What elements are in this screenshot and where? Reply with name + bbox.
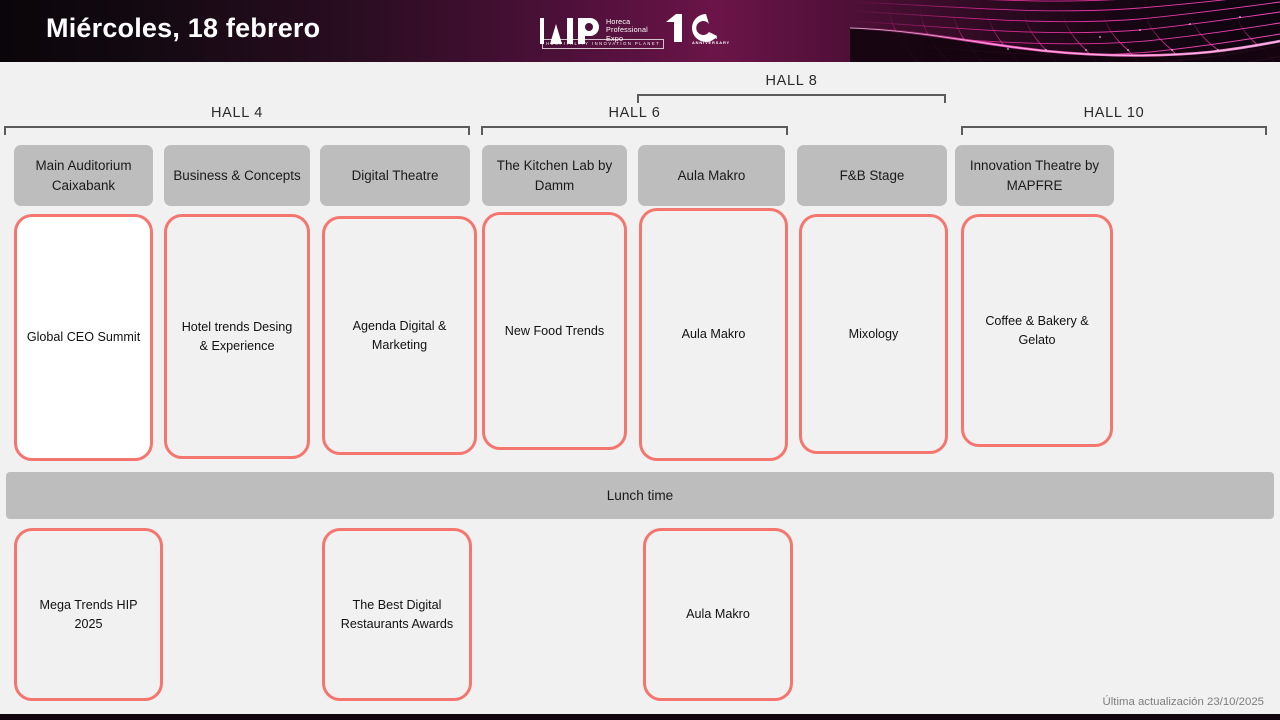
room-header[interactable]: The Kitchen Lab by Damm: [482, 145, 627, 206]
session-card-title: Hotel trends Desing & Experience: [176, 318, 298, 356]
session-card-title: Global CEO Summit: [27, 328, 140, 347]
page-title: Miércoles, 18 febrero: [46, 13, 320, 44]
room-header[interactable]: Business & Concepts: [164, 145, 310, 206]
room-header-label: Business & Concepts: [173, 166, 300, 186]
session-card[interactable]: Aula Makro: [639, 208, 788, 461]
anniversary-text: ANNIVERSARY: [692, 41, 730, 46]
hall-label: HALL 8: [637, 73, 946, 89]
anniversary-badge: YEAR ANNIVERSARY: [662, 12, 728, 49]
session-card-title: Mixology: [849, 325, 899, 344]
bottom-decoration-strip: [0, 714, 1280, 720]
hall-group-hall-6: HALL 6: [481, 105, 788, 138]
session-card[interactable]: Agenda Digital & Marketing: [322, 216, 477, 455]
hip-logo: Horeca Professional Expo HOSPITALITY INN…: [540, 12, 728, 49]
session-card-title: New Food Trends: [505, 322, 604, 341]
hall-group-hall-4: HALL 4: [4, 105, 470, 138]
hall-bracket: [4, 126, 470, 135]
lunch-time-bar: Lunch time: [6, 472, 1274, 519]
hall-label: HALL 10: [961, 105, 1267, 121]
anniversary-label: YEAR ANNIVERSARY: [692, 36, 730, 46]
room-header-label: Digital Theatre: [352, 166, 439, 186]
session-card[interactable]: The Best Digital Restaurants Awards: [322, 528, 472, 701]
session-card[interactable]: Mega Trends HIP 2025: [14, 528, 163, 701]
room-header[interactable]: Aula Makro: [638, 145, 785, 206]
session-card-title: The Best Digital Restaurants Awards: [334, 596, 460, 634]
hall-label: HALL 4: [4, 105, 470, 121]
room-header-label: Innovation Theatre by MAPFRE: [961, 156, 1108, 196]
session-card[interactable]: Coffee & Bakery & Gelato: [961, 214, 1113, 447]
session-card-title: Aula Makro: [686, 605, 750, 624]
hall-label: HALL 6: [481, 105, 788, 121]
room-header-label: Main Auditorium Caixabank: [20, 156, 147, 196]
room-header[interactable]: Innovation Theatre by MAPFRE: [955, 145, 1114, 206]
room-header[interactable]: Digital Theatre: [320, 145, 470, 206]
hall-group-hall-8: HALL 8: [637, 73, 946, 106]
room-header-label: The Kitchen Lab by Damm: [488, 156, 621, 196]
session-card-title: Coffee & Bakery & Gelato: [973, 312, 1101, 350]
session-card[interactable]: New Food Trends: [482, 212, 627, 450]
hall-group-hall-10: HALL 10: [961, 105, 1267, 138]
room-header[interactable]: Main Auditorium Caixabank: [14, 145, 153, 206]
room-header[interactable]: F&B Stage: [797, 145, 947, 206]
session-card[interactable]: Aula Makro: [643, 528, 793, 701]
session-card-title: Aula Makro: [682, 325, 746, 344]
session-card[interactable]: Hotel trends Desing & Experience: [164, 214, 310, 459]
hip-tagline: HOSPITALITY INNOVATION PLANET: [542, 39, 664, 49]
session-card-title: Agenda Digital & Marketing: [334, 317, 465, 355]
session-card-title: Mega Trends HIP 2025: [26, 596, 151, 634]
hip-logo-icon: Horeca Professional Expo HOSPITALITY INN…: [540, 18, 648, 44]
last-update-note: Última actualización 23/10/2025: [1103, 696, 1264, 708]
page-header: Miércoles, 18 febrero Horeca Professiona…: [0, 0, 1280, 62]
lunch-time-label: Lunch time: [607, 488, 674, 503]
room-header-label: Aula Makro: [678, 166, 746, 186]
agenda-slide: Miércoles, 18 febrero Horeca Professiona…: [0, 0, 1280, 720]
hall-bracket: [961, 126, 1267, 135]
hall-bracket: [637, 94, 946, 103]
hall-bracket: [481, 126, 788, 135]
room-header-label: F&B Stage: [840, 166, 905, 186]
pink-wave-mesh-graphic: [850, 0, 1280, 62]
session-card[interactable]: Global CEO Summit: [14, 214, 153, 461]
session-card[interactable]: Mixology: [799, 214, 948, 454]
